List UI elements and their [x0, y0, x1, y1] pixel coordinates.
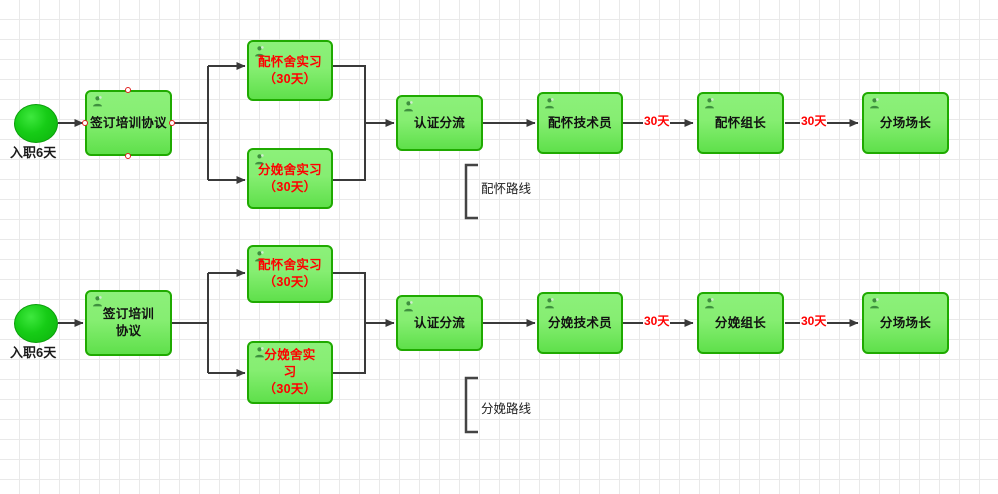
person-icon — [402, 100, 415, 113]
person-icon — [543, 297, 556, 310]
node-label-line2: （30天） — [264, 72, 317, 86]
node-label-line1: 配怀舍实习 — [258, 258, 322, 272]
edge-label-leader-to-manager-row2: 30天 — [800, 315, 827, 328]
node-farrowing-house-internship-row2[interactable]: 分娩舍实 习 （30天） — [247, 341, 333, 404]
node-label: 认证分流 — [401, 315, 478, 332]
route-label-row2: 分娩路线 — [481, 398, 531, 417]
node-breeding-group-leader-row1[interactable]: 配怀组长 — [697, 92, 784, 154]
node-label: 分娩组长 — [702, 315, 779, 332]
connection-handle-top[interactable] — [125, 87, 131, 93]
person-icon — [91, 95, 104, 108]
person-icon — [703, 97, 716, 110]
node-certification-split-row1[interactable]: 认证分流 — [396, 95, 483, 151]
node-label-line1: 分娩舍实习 — [258, 163, 322, 177]
node-label-line1: 分娩舍实 — [264, 348, 315, 362]
connection-handle-bottom[interactable] — [125, 153, 131, 159]
node-label: 分场场长 — [867, 115, 944, 132]
node-label: 配怀组长 — [702, 115, 779, 132]
node-farrowing-technician-row2[interactable]: 分娩技术员 — [537, 292, 623, 354]
connector-layer — [0, 0, 998, 494]
node-branch-manager-row1[interactable]: 分场场长 — [862, 92, 949, 154]
node-label: 分娩技术员 — [542, 315, 618, 332]
node-label-line2: （30天） — [264, 275, 317, 289]
person-icon — [543, 97, 556, 110]
person-icon — [868, 297, 881, 310]
person-icon — [868, 97, 881, 110]
node-sign-agreement-row2[interactable]: 签订培训 协议 — [85, 290, 172, 356]
node-breeding-house-internship-row2[interactable]: 配怀舍实习 （30天） — [247, 245, 333, 303]
node-certification-split-row2[interactable]: 认证分流 — [396, 295, 483, 351]
node-label: 配怀技术员 — [542, 115, 618, 132]
start-circle-row1[interactable] — [14, 104, 58, 143]
node-label: 分娩舍实习 （30天） — [252, 162, 328, 196]
node-label-line2: （30天） — [264, 180, 317, 194]
route-label-row1: 配怀路线 — [481, 178, 531, 197]
node-label: 签订培训协议 — [90, 115, 167, 132]
edge-label-leader-to-manager-row1: 30天 — [800, 115, 827, 128]
node-label-line1: 配怀舍实习 — [258, 55, 322, 69]
node-label: 配怀舍实习 （30天） — [252, 54, 328, 88]
node-label: 分娩舍实 习 （30天） — [252, 347, 328, 398]
node-branch-manager-row2[interactable]: 分场场长 — [862, 292, 949, 354]
connection-handle-left[interactable] — [82, 120, 88, 126]
node-label: 签订培训 协议 — [90, 306, 167, 340]
node-farrowing-house-internship-row1[interactable]: 分娩舍实习 （30天） — [247, 148, 333, 209]
node-label-line1: 签订培训 — [103, 307, 154, 321]
node-label-line2: 协议 — [116, 324, 142, 338]
start-label-row2: 入职6天 — [10, 342, 56, 361]
node-label: 认证分流 — [401, 115, 478, 132]
node-breeding-house-internship-row1[interactable]: 配怀舍实习 （30天） — [247, 40, 333, 101]
edge-label-tech-to-leader-row1: 30天 — [643, 115, 670, 128]
edge-label-tech-to-leader-row2: 30天 — [643, 315, 670, 328]
node-sign-agreement-row1[interactable]: 签订培训协议 — [85, 90, 172, 156]
node-label: 配怀舍实习 （30天） — [252, 257, 328, 291]
node-label-line2: 习 — [284, 365, 297, 379]
node-farrowing-group-leader-row2[interactable]: 分娩组长 — [697, 292, 784, 354]
person-icon — [402, 300, 415, 313]
start-label-row1: 入职6天 — [10, 142, 56, 161]
node-label-line3: （30天） — [264, 382, 317, 396]
diagram-canvas: 入职6天 签订培训协议 配怀舍实习 （30天） 分娩舍实习 （30天） 认证分流 — [0, 0, 998, 494]
person-icon — [703, 297, 716, 310]
connection-handle-right[interactable] — [169, 120, 175, 126]
node-label: 分场场长 — [867, 315, 944, 332]
node-breeding-technician-row1[interactable]: 配怀技术员 — [537, 92, 623, 154]
start-circle-row2[interactable] — [14, 304, 58, 343]
